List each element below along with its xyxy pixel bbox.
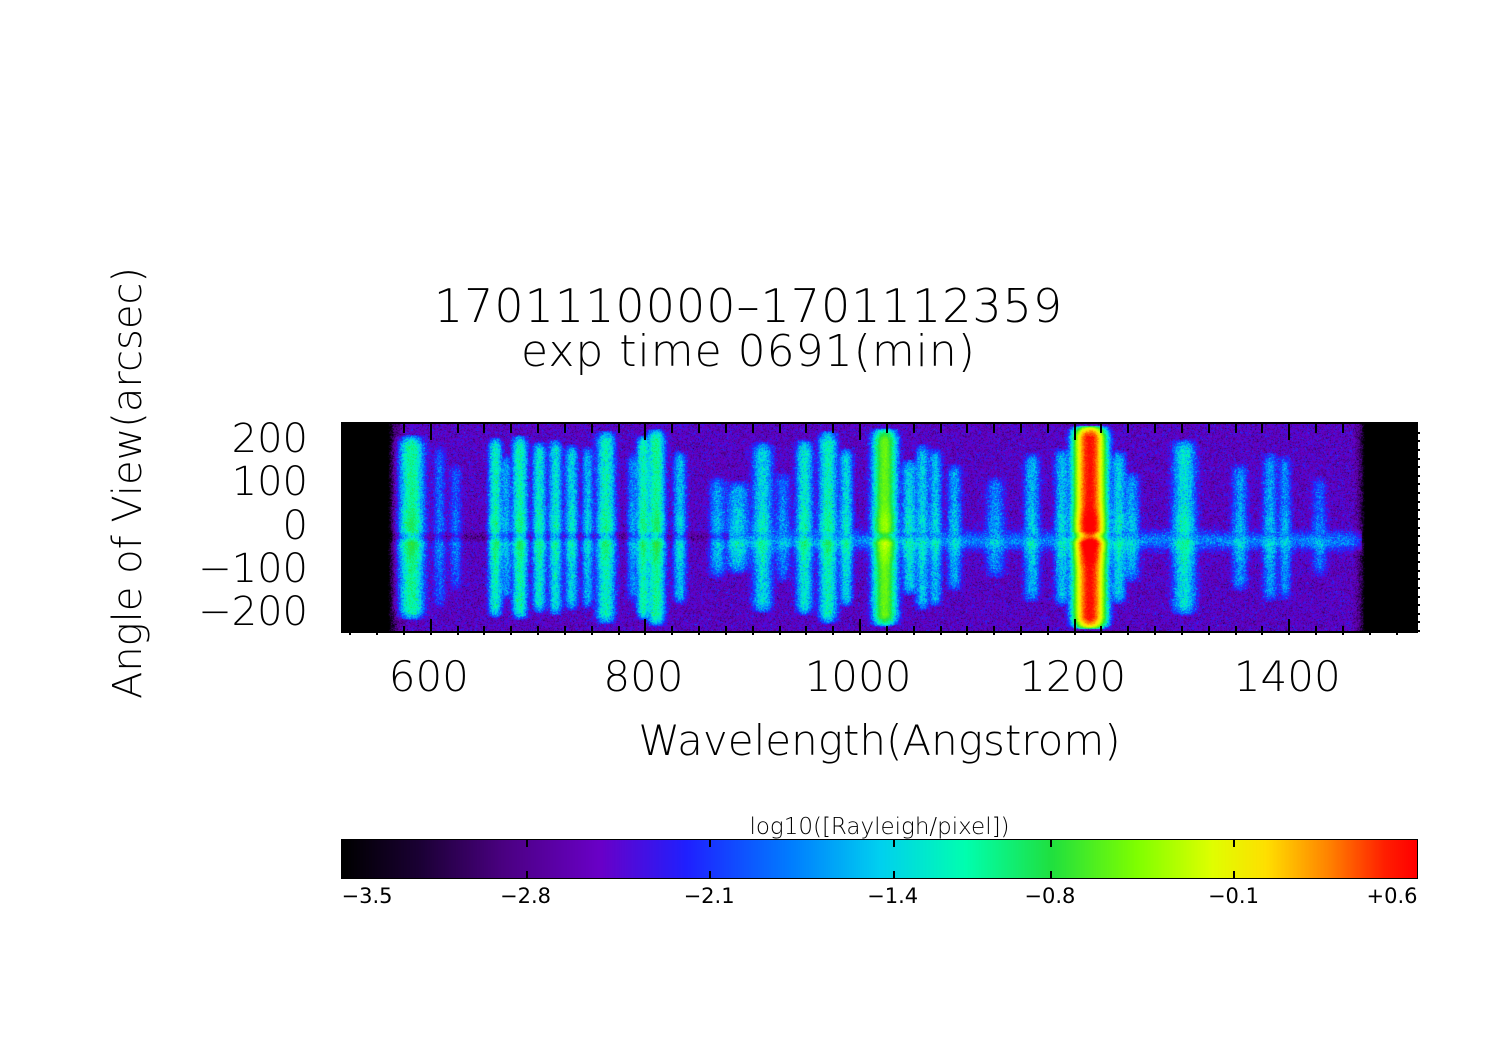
colorbar-tick-label-5: −0.1 xyxy=(1208,884,1259,908)
y-minor-tick xyxy=(1411,604,1420,606)
colorbar-tick xyxy=(1050,871,1052,878)
title-line-observation-id: 1701110000–1701112359 xyxy=(0,283,1497,330)
x-minor-tick xyxy=(913,424,915,433)
x-minor-tick xyxy=(537,424,539,433)
y-major-tick xyxy=(1404,527,1420,529)
y-minor-tick xyxy=(1411,449,1420,451)
y-minor-tick xyxy=(1411,518,1420,520)
y-minor-tick xyxy=(343,578,352,580)
x-major-tick xyxy=(430,619,432,635)
x-minor-tick xyxy=(832,424,834,433)
x-minor-tick xyxy=(940,424,942,433)
y-minor-tick xyxy=(343,604,352,606)
x-minor-tick xyxy=(671,424,673,433)
x-minor-tick xyxy=(1127,424,1129,433)
colorbar-tick-label-6: +0.6 xyxy=(1367,884,1418,908)
colorbar-tick xyxy=(526,871,528,878)
colorbar-tick-label-3: −1.4 xyxy=(867,884,918,908)
spectrogram-plot-area xyxy=(341,422,1418,633)
y-axis-label: Angle of View(arcsec) xyxy=(105,223,151,743)
x-minor-tick xyxy=(1047,626,1049,635)
x-minor-tick xyxy=(510,626,512,635)
y-minor-tick xyxy=(1411,578,1420,580)
y-minor-tick xyxy=(343,466,352,468)
x-minor-tick xyxy=(1315,626,1317,635)
x-minor-tick xyxy=(1342,424,1344,433)
y-minor-tick xyxy=(343,501,352,503)
colorbar-tick xyxy=(709,871,711,878)
x-minor-tick xyxy=(1235,424,1237,433)
x-major-tick xyxy=(859,424,861,440)
x-minor-tick xyxy=(698,424,700,433)
x-minor-tick xyxy=(1154,626,1156,635)
colorbar xyxy=(341,839,1418,879)
y-minor-tick xyxy=(343,596,352,598)
y-major-tick xyxy=(343,483,359,485)
colorbar-tick-label-2: −2.1 xyxy=(684,884,735,908)
y-minor-tick xyxy=(343,458,352,460)
x-minor-tick xyxy=(1181,626,1183,635)
x-minor-tick xyxy=(376,626,378,635)
x-minor-tick xyxy=(618,424,620,433)
x-minor-tick xyxy=(1208,424,1210,433)
x-minor-tick xyxy=(483,626,485,635)
y-major-tick xyxy=(1404,440,1420,442)
x-minor-tick xyxy=(966,626,968,635)
y-minor-tick xyxy=(343,561,352,563)
y-tick-label-3: −100 xyxy=(198,546,308,592)
x-minor-tick xyxy=(564,626,566,635)
x-minor-tick xyxy=(1369,626,1371,635)
x-minor-tick xyxy=(457,626,459,635)
x-minor-tick xyxy=(1235,626,1237,635)
y-major-tick xyxy=(343,613,359,615)
x-minor-tick xyxy=(805,424,807,433)
y-minor-tick xyxy=(1411,501,1420,503)
y-minor-tick xyxy=(343,587,352,589)
y-major-tick xyxy=(1404,483,1420,485)
y-minor-tick xyxy=(1411,509,1420,511)
colorbar-tick-label-0: −3.5 xyxy=(342,884,393,908)
x-minor-tick xyxy=(483,424,485,433)
x-minor-tick xyxy=(805,626,807,635)
y-minor-tick xyxy=(1411,535,1420,537)
colorbar-tick xyxy=(893,871,895,878)
y-minor-tick xyxy=(343,544,352,546)
y-major-tick xyxy=(343,440,359,442)
x-minor-tick xyxy=(1100,626,1102,635)
x-minor-tick xyxy=(591,626,593,635)
y-minor-tick xyxy=(1411,630,1420,632)
y-minor-tick xyxy=(343,509,352,511)
x-minor-tick xyxy=(1261,424,1263,433)
plot-title: 1701110000–1701112359 exp time 0691(min) xyxy=(0,283,1497,375)
y-minor-tick xyxy=(1411,596,1420,598)
x-minor-tick xyxy=(403,424,405,433)
x-major-tick xyxy=(859,619,861,635)
x-minor-tick xyxy=(403,626,405,635)
x-axis-tick-labels: 600800100012001400 xyxy=(341,652,1418,712)
x-minor-tick xyxy=(1342,626,1344,635)
y-minor-tick xyxy=(343,552,352,554)
colorbar-tick xyxy=(1233,840,1235,847)
y-minor-tick xyxy=(343,630,352,632)
x-minor-tick xyxy=(1369,424,1371,433)
y-major-tick xyxy=(343,527,359,529)
colorbar-tick-labels: −3.5−2.8−2.1−1.4−0.8−0.1+0.6 xyxy=(341,884,1418,924)
x-axis-label: Wavelength(Angstrom) xyxy=(341,716,1418,765)
x-minor-tick xyxy=(1181,424,1183,433)
x-minor-tick xyxy=(1261,626,1263,635)
y-minor-tick xyxy=(1411,432,1420,434)
x-minor-tick xyxy=(1396,626,1398,635)
x-major-tick xyxy=(1074,619,1076,635)
x-tick-label-1200: 1200 xyxy=(1019,652,1126,701)
x-major-tick xyxy=(1288,619,1290,635)
y-minor-tick xyxy=(343,518,352,520)
x-minor-tick xyxy=(779,626,781,635)
x-tick-label-800: 800 xyxy=(603,652,683,701)
x-minor-tick xyxy=(1315,424,1317,433)
x-minor-tick xyxy=(671,626,673,635)
x-tick-label-1000: 1000 xyxy=(805,652,912,701)
x-minor-tick xyxy=(537,626,539,635)
y-minor-tick xyxy=(1411,458,1420,460)
x-minor-tick xyxy=(1047,424,1049,433)
y-minor-tick xyxy=(1411,492,1420,494)
x-minor-tick xyxy=(886,424,888,433)
x-minor-tick xyxy=(993,626,995,635)
colorbar-tick xyxy=(1050,840,1052,847)
colorbar-title: log10([Rayleigh/pixel]) xyxy=(341,814,1418,840)
y-tick-label-0: 200 xyxy=(232,416,308,462)
x-minor-tick xyxy=(1154,424,1156,433)
x-major-tick xyxy=(430,424,432,440)
x-minor-tick xyxy=(993,424,995,433)
y-minor-tick xyxy=(1411,475,1420,477)
y-tick-label-2: 0 xyxy=(283,503,308,549)
y-minor-tick xyxy=(1411,587,1420,589)
colorbar-tick xyxy=(709,840,711,847)
x-minor-tick xyxy=(940,626,942,635)
y-major-tick xyxy=(1404,570,1420,572)
colorbar-tick xyxy=(1233,871,1235,878)
colorbar-tick xyxy=(893,840,895,847)
x-tick-label-600: 600 xyxy=(389,652,469,701)
colorbar-gradient xyxy=(342,840,1417,878)
y-major-tick xyxy=(343,570,359,572)
y-minor-tick xyxy=(343,449,352,451)
colorbar-tick-label-1: −2.8 xyxy=(500,884,551,908)
y-minor-tick xyxy=(343,492,352,494)
x-minor-tick xyxy=(457,424,459,433)
y-minor-tick xyxy=(343,535,352,537)
x-major-tick xyxy=(644,424,646,440)
x-minor-tick xyxy=(1396,424,1398,433)
y-minor-tick xyxy=(1411,544,1420,546)
spectrogram-image xyxy=(343,424,1416,631)
x-minor-tick xyxy=(752,424,754,433)
x-major-tick xyxy=(1288,424,1290,440)
x-major-tick xyxy=(1074,424,1076,440)
y-minor-tick xyxy=(1411,621,1420,623)
y-minor-tick xyxy=(343,432,352,434)
x-minor-tick xyxy=(832,626,834,635)
colorbar-tick xyxy=(526,840,528,847)
x-minor-tick xyxy=(591,424,593,433)
title-line-exposure-time: exp time 0691(min) xyxy=(0,330,1497,375)
x-minor-tick xyxy=(752,626,754,635)
y-major-tick xyxy=(1404,613,1420,615)
x-minor-tick xyxy=(779,424,781,433)
x-minor-tick xyxy=(510,424,512,433)
x-tick-label-1400: 1400 xyxy=(1234,652,1341,701)
x-minor-tick xyxy=(1208,626,1210,635)
y-minor-tick xyxy=(1411,466,1420,468)
y-minor-tick xyxy=(343,475,352,477)
x-minor-tick xyxy=(376,424,378,433)
x-minor-tick xyxy=(913,626,915,635)
x-minor-tick xyxy=(1100,424,1102,433)
x-minor-tick xyxy=(725,424,727,433)
y-minor-tick xyxy=(1411,561,1420,563)
x-minor-tick xyxy=(698,626,700,635)
x-major-tick xyxy=(644,619,646,635)
x-minor-tick xyxy=(966,424,968,433)
x-minor-tick xyxy=(886,626,888,635)
x-minor-tick xyxy=(1020,626,1022,635)
y-axis-tick-labels: 2001000−100−200 xyxy=(180,415,330,640)
x-minor-tick xyxy=(1020,424,1022,433)
y-minor-tick xyxy=(343,621,352,623)
y-tick-label-1: 100 xyxy=(232,459,308,505)
x-minor-tick xyxy=(725,626,727,635)
x-minor-tick xyxy=(618,626,620,635)
x-minor-tick xyxy=(564,424,566,433)
y-tick-label-4: −200 xyxy=(198,589,308,635)
colorbar-tick-label-4: −0.8 xyxy=(1024,884,1075,908)
x-minor-tick xyxy=(1127,626,1129,635)
y-minor-tick xyxy=(1411,552,1420,554)
